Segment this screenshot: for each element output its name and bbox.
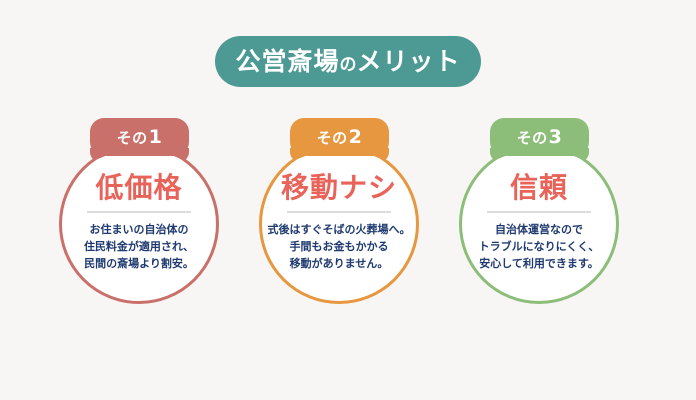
benefit-card-2: その2 移動ナシ 式後はすぐそばの火葬場へ。 手間もお金もかかる 移動がありませ…	[250, 110, 446, 310]
benefit-description-1-line-1: お住まいの自治体の	[89, 223, 188, 236]
page-title-banner: 公営斎場のメリット	[215, 36, 481, 87]
badge-2-label: その2	[317, 128, 363, 147]
benefit-description-2-line-3: 移動がありません。	[290, 257, 389, 270]
benefit-description-3: 自治体運営なので トラブルになりにくく、 安心して利用できます。	[479, 221, 600, 272]
badge-3-prefix: その	[517, 131, 548, 146]
badge-3-label: その3	[517, 128, 563, 147]
benefit-description-2-line-2: 手間もお金もかかる	[290, 240, 389, 253]
badge-2-prefix: その	[317, 131, 348, 146]
page-title-main: 公営斎場	[235, 49, 339, 74]
benefit-circle-3: 信頼 自治体運営なので トラブルになりにくく、 安心して利用できます。	[459, 144, 619, 304]
benefit-heading-3: 信頼	[510, 173, 568, 202]
benefit-heading-1: 低価格	[95, 173, 182, 202]
benefit-circle-1: 低価格 お住まいの自治体の 住民料金が適用され、 民間の斎場より割安。	[59, 144, 219, 304]
badge-3-number: 3	[549, 128, 563, 147]
badge-1-number: 1	[149, 128, 163, 147]
benefit-cards: その1 低価格 お住まいの自治体の 住民料金が適用され、 民間の斎場より割安。 …	[0, 110, 696, 320]
badge-1-prefix: その	[117, 131, 148, 146]
page-title-tail: メリット	[357, 49, 461, 74]
page-title-particle: の	[340, 57, 357, 74]
badge-2-number: 2	[349, 128, 363, 147]
badge-1: その1	[90, 118, 189, 156]
benefit-card-1: その1 低価格 お住まいの自治体の 住民料金が適用され、 民間の斎場より割安。	[50, 110, 246, 310]
badge-2: その2	[290, 118, 389, 156]
benefit-circle-2: 移動ナシ 式後はすぐそばの火葬場へ。 手間もお金もかかる 移動がありません。	[259, 144, 419, 304]
badge-1-label: その1	[117, 128, 163, 147]
benefit-description-3-line-3: 安心して利用できます。	[479, 257, 599, 270]
divider-2	[287, 211, 391, 213]
benefit-description-1-line-2: 住民料金が適用され、	[84, 240, 194, 253]
benefit-description-3-line-1: 自治体運営なので	[495, 223, 583, 236]
benefit-description-1: お住まいの自治体の 住民料金が適用され、 民間の斎場より割安。	[84, 221, 194, 272]
badge-3: その3	[490, 118, 589, 156]
benefit-card-3: その3 信頼 自治体運営なので トラブルになりにくく、 安心して利用できます。	[450, 110, 646, 310]
divider-1	[87, 211, 191, 213]
benefit-description-2-line-1: 式後はすぐそばの火葬場へ。	[268, 223, 411, 236]
divider-3	[487, 211, 591, 213]
benefit-description-2: 式後はすぐそばの火葬場へ。 手間もお金もかかる 移動がありません。	[268, 221, 411, 272]
benefit-heading-2: 移動ナシ	[281, 173, 397, 202]
benefit-description-3-line-2: トラブルになりにくく、	[479, 240, 600, 253]
benefit-description-1-line-3: 民間の斎場より割安。	[84, 257, 194, 270]
page-title: 公営斎場のメリット	[235, 49, 460, 74]
